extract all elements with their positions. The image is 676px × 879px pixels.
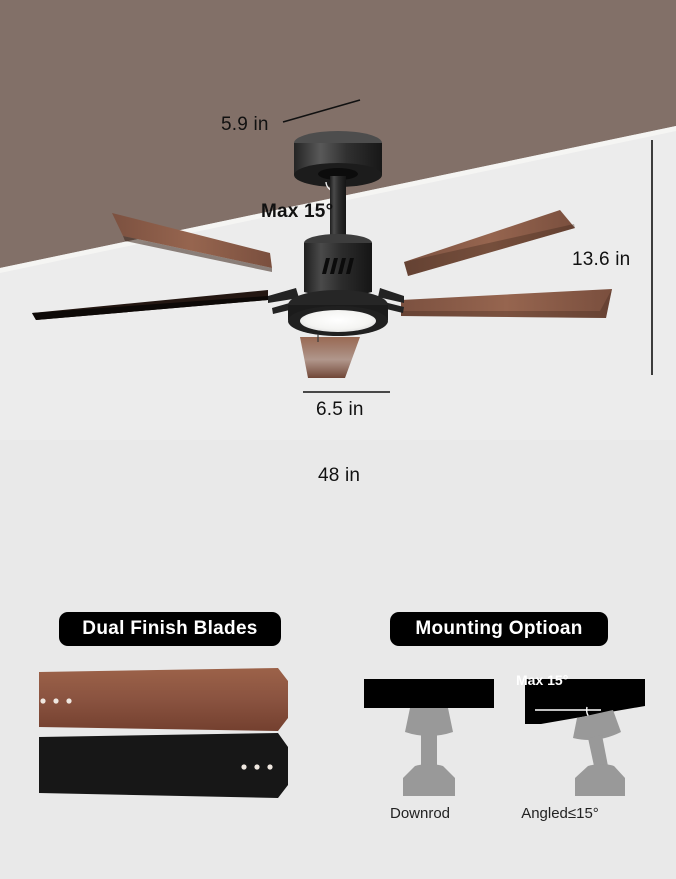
mount-option-angled-icon [525, 679, 645, 796]
dim-label-blade-span: 48 in [318, 465, 360, 487]
dual-finish-blades-illustration [30, 665, 320, 825]
led-light-diffuser [300, 310, 376, 332]
mount-option-downrod-icon [364, 679, 494, 796]
product-diagram-page: 5.9 in Max 15° 13.6 in 6.5 in 48 in Dual… [0, 0, 676, 879]
dim-label-tilt-max: Max 15° [261, 201, 333, 223]
angled-max-angle-note: Max 15° [516, 672, 568, 688]
badge-mounting-options: Mounting Optioan [390, 612, 608, 646]
badge-dual-finish-blades: Dual Finish Blades [59, 612, 281, 646]
dim-label-overall-height: 13.6 in [572, 249, 630, 271]
mounting-options-illustration [355, 666, 645, 796]
motor-housing [304, 243, 372, 297]
fan-scene-svg [0, 0, 676, 440]
blade-sample-wood [39, 668, 288, 731]
caption-angled: Angled≤15° [470, 805, 650, 822]
blade-sample-black [39, 733, 288, 798]
dim-label-canopy-width: 5.9 in [221, 114, 269, 136]
fan-dimension-scene: 5.9 in Max 15° 13.6 in 6.5 in [0, 0, 676, 440]
dim-label-motor-width: 6.5 in [316, 399, 364, 421]
